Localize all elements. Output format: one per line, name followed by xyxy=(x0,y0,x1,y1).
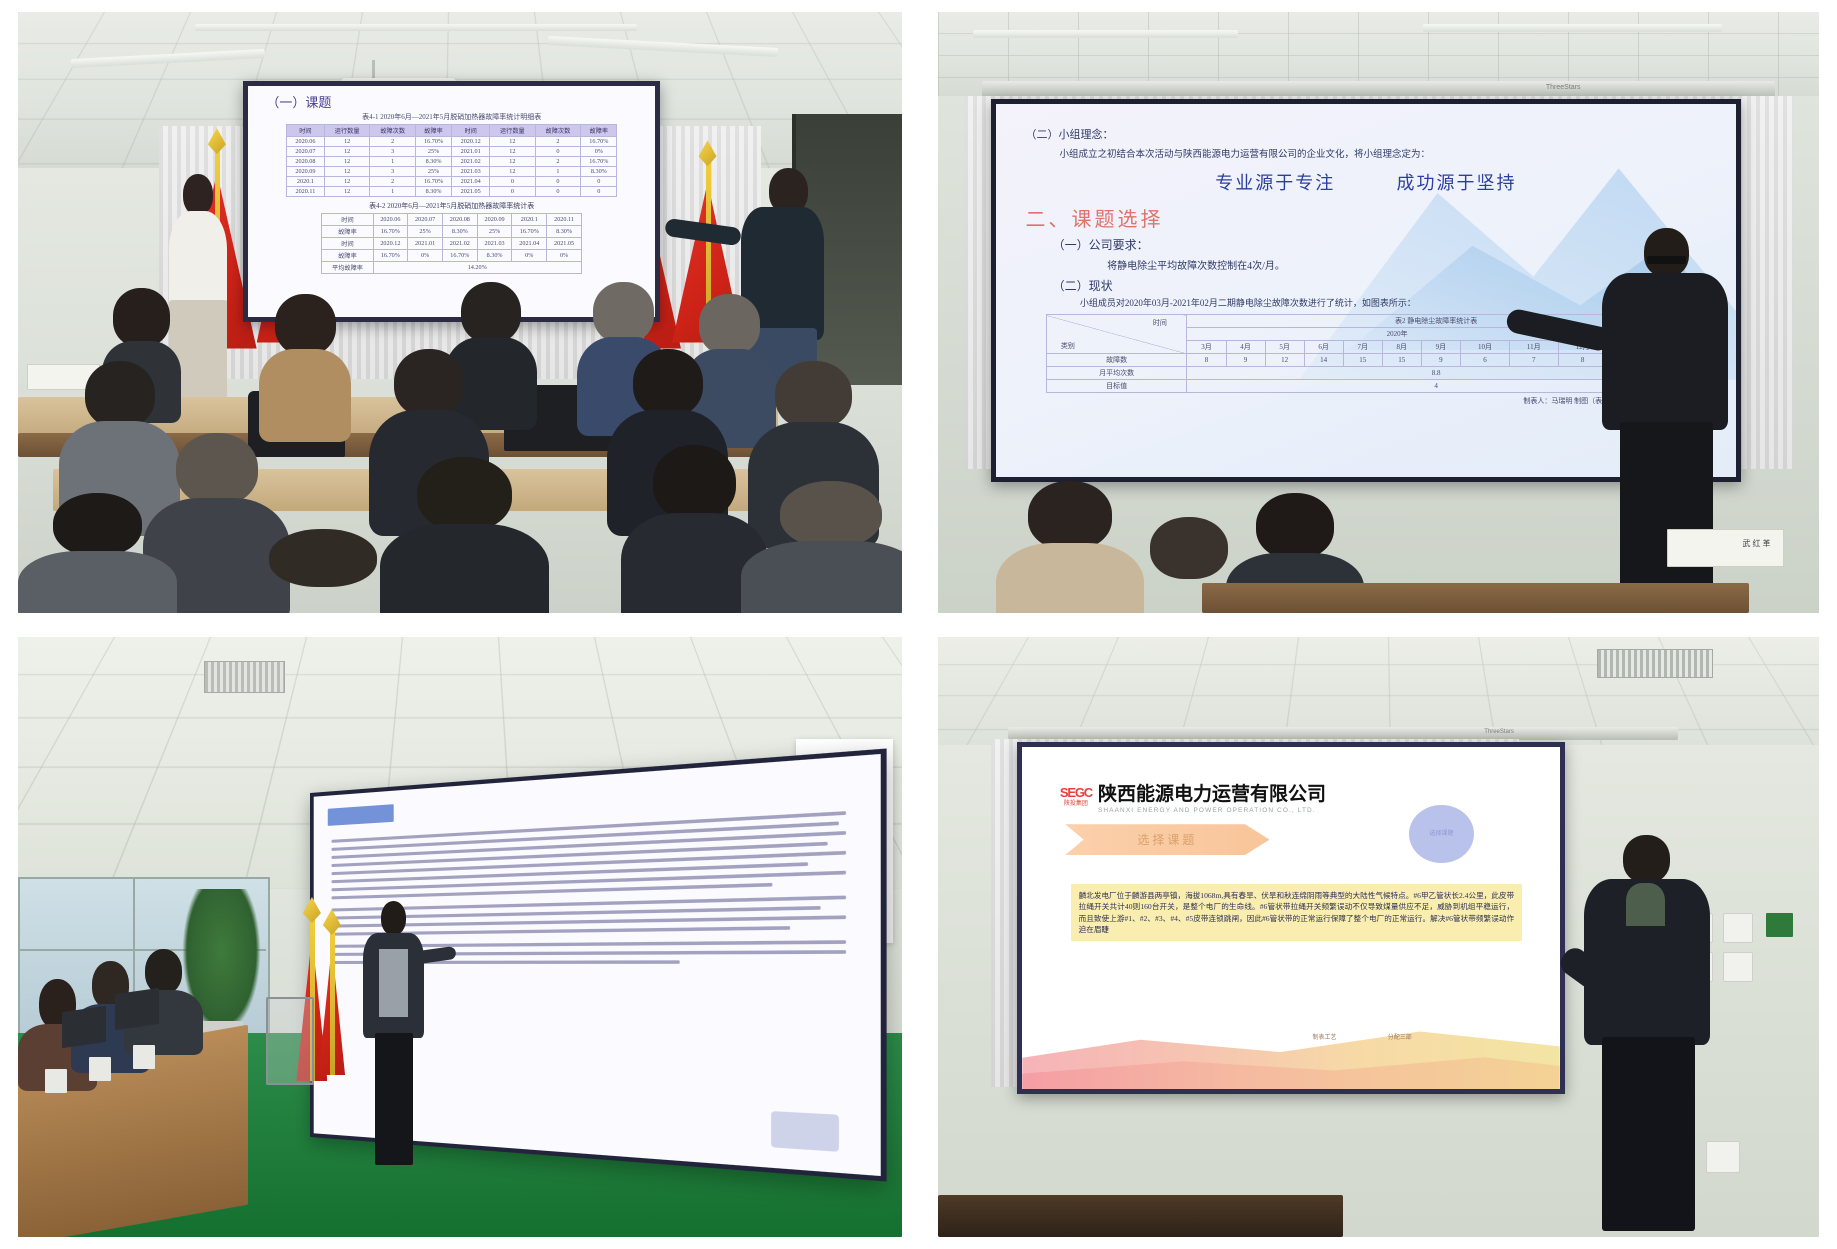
slide-table1-caption: 表4-1 2020年6月—2021年5月脱硝加热器故障率统计明细表 xyxy=(254,112,649,122)
slogan-left: 专业源于专注 xyxy=(1215,169,1335,195)
table-row: 时间2020.12 2021.012021.02 2021.032021.04 … xyxy=(322,238,581,250)
row-label: 目标值 xyxy=(1046,380,1187,393)
cup xyxy=(133,1045,155,1069)
presenter-bottom-right xyxy=(1572,835,1722,1231)
th: 运行数量 xyxy=(324,125,370,137)
audience-member xyxy=(248,529,398,613)
corner-col-label: 类别 xyxy=(1061,341,1075,351)
presenter-bottom-left xyxy=(354,901,434,1165)
projector-brand-label-top-right: ThreeStars xyxy=(1546,84,1581,91)
corner-row-label: 时间 xyxy=(1153,318,1167,328)
slide-heading-bottom-left xyxy=(327,805,393,827)
failure-summary-table: 时间2020.06 2020.072020.08 2020.092020.1 2… xyxy=(321,213,581,274)
photo-bottom-right: ThreeStars SEGC 陕投集团 xyxy=(938,637,1819,1237)
table-row: 2020.1112 18.30% 2021.050 00 xyxy=(286,187,617,197)
badge-label: 选择课题 xyxy=(1429,831,1453,838)
logo-sub: 陕投集团 xyxy=(1060,801,1092,807)
collage-cell-top-right: ThreeStars （二）小组理念： 小组成立之初结合本次活动与陕西能源电力运… xyxy=(920,0,1837,625)
ceiling-vent xyxy=(204,661,286,693)
company-logo: SEGC 陕投集团 xyxy=(1060,786,1092,807)
company-name-en: SHAANXI ENERGY AND POWER OPERATION CO., … xyxy=(1098,807,1326,814)
th: 故障率 xyxy=(415,125,451,137)
avg-value: 14.20% xyxy=(373,262,581,274)
wall-socket[interactable] xyxy=(1723,952,1753,982)
cup xyxy=(89,1057,111,1081)
laptop xyxy=(62,1006,106,1048)
table-row: 2020.0612 216.70% 2020.1212 216.70% xyxy=(286,137,617,147)
footer-left-label: 制表工艺 xyxy=(1312,1032,1336,1041)
projector-brand-label-bottom-right: ThreeStars xyxy=(1484,729,1514,735)
audience-member xyxy=(398,457,531,613)
audience-member xyxy=(266,294,346,438)
collage-cell-bottom-right: ThreeStars SEGC 陕投集团 xyxy=(920,625,1837,1249)
th: 故障次数 xyxy=(535,125,581,137)
table-row: 2020.0912 325% 2021.0312 18.30% xyxy=(286,167,617,177)
nameplate-label-top-right: 武 红 革 xyxy=(1743,538,1771,549)
slide-line2: 小组成立之初结合本次活动与陕西能源电力运营有限公司的企业文化，将小组理念定为： xyxy=(1059,146,1706,160)
collage-cell-top-left: （一）课题 表4-1 2020年6月—2021年5月脱硝加热器故障率统计明细表 … xyxy=(0,0,920,625)
footer-right-label: 分配三部 xyxy=(1388,1032,1412,1041)
collage-cell-bottom-left: SEGC 陕投集团 xyxy=(0,625,920,1249)
laptop xyxy=(115,988,159,1030)
slide-heading: （一）课题 xyxy=(266,92,649,111)
th: 时间 xyxy=(452,125,490,137)
photo-collage: （一）课题 表4-1 2020年6月—2021年5月脱硝加热器故障率统计明细表 … xyxy=(0,0,1837,1249)
emergency-sign xyxy=(1766,913,1792,937)
row-label: 故障数 xyxy=(1046,354,1187,367)
audience-member xyxy=(1008,481,1131,613)
screen-mount-bar xyxy=(982,81,1775,97)
audience-member xyxy=(36,493,160,613)
slogan-right: 成功源于坚持 xyxy=(1397,169,1517,195)
cup xyxy=(45,1069,67,1093)
avg-label: 平均故障率 xyxy=(322,262,373,274)
audience-member xyxy=(637,445,752,613)
table-row: 故障率16.70% 0%16.70% 8.30%0% 0% xyxy=(322,250,581,262)
company-name-cn: 陕西能源电力运营有限公司 xyxy=(1098,779,1326,806)
folding-chair xyxy=(266,997,314,1085)
photo-bottom-left: SEGC 陕投集团 xyxy=(18,637,902,1237)
failure-detail-table: 时间 运行数量 故障次数 故障率 时间 运行数量 故障次数 故障率 xyxy=(286,124,618,197)
table-row: 2020.0712 325% 2021.0112 00% xyxy=(286,147,617,157)
th: 时间 xyxy=(286,125,324,137)
slide-table2-caption: 表4-2 2020年6月—2021年5月脱硝加热器故障率统计表 xyxy=(254,201,649,211)
ribbon-label: 选择课题 xyxy=(1137,831,1197,848)
row-label: 月平均次数 xyxy=(1046,367,1187,380)
slide-footer: 制表人：马瑞明 制图（表）时间：2021年03月09日 xyxy=(1025,396,1679,406)
slide-footer-mark xyxy=(771,1111,838,1152)
ceiling-vent xyxy=(1597,649,1714,678)
glasses-icon xyxy=(1647,256,1686,263)
table-row: 时间2020.06 2020.072020.08 2020.092020.1 2… xyxy=(322,214,581,226)
body-text-box: 麟北发电厂位于麟游县两亭镇，海拔1068m,具有春旱、伏旱和秋连绵阴雨等典型的大… xyxy=(1071,884,1522,942)
table-row: 2020.112 216.70% 2021.040 00 xyxy=(286,177,617,187)
projection-screen-bottom-right: SEGC 陕投集团 陕西能源电力运营有限公司 SHAANXI ENERGY AN… xyxy=(1017,742,1564,1094)
slide-line1: （二）小组理念： xyxy=(1025,126,1706,142)
photo-top-right: ThreeStars （二）小组理念： 小组成立之初结合本次活动与陕西能源电力运… xyxy=(938,12,1819,613)
table-footer-row: 平均故障率 14.20% xyxy=(322,262,581,274)
table-row: 2020.0812 18.30% 2021.0212 216.70% xyxy=(286,157,617,167)
body-text: 麟北发电厂位于麟游县两亭镇，海拔1068m,具有春旱、伏旱和秋连绵阴雨等典型的大… xyxy=(1079,890,1514,936)
audience-member xyxy=(761,481,902,613)
table-row: 故障率16.70% 25%8.30% 25%16.70% 8.30% xyxy=(322,226,581,238)
ribbon-banner: 选择课题 xyxy=(1065,824,1269,855)
wall-socket[interactable] xyxy=(1723,913,1753,943)
th: 运行数量 xyxy=(490,125,536,137)
th: 故障率 xyxy=(581,125,617,137)
logo-mark: SEGC xyxy=(1060,786,1092,799)
th: 故障次数 xyxy=(370,125,416,137)
photo-top-left: （一）课题 表4-1 2020年6月—2021年5月脱硝加热器故障率统计明细表 … xyxy=(18,12,902,613)
circle-badge: 选择课题 xyxy=(1409,805,1473,863)
table-header-row: 时间 运行数量 故障次数 故障率 时间 运行数量 故障次数 故障率 xyxy=(286,125,617,137)
